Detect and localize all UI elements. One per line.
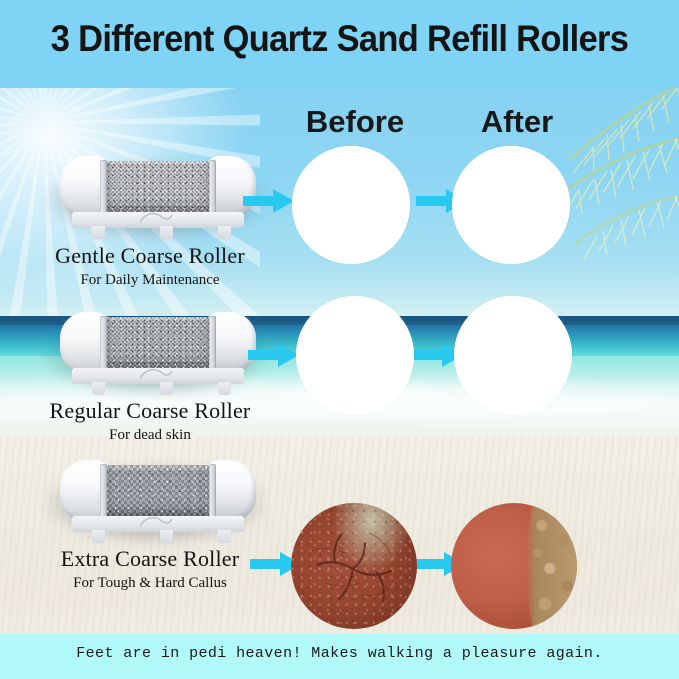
page-title: 3 Different Quartz Sand Refill Rollers: [24, 18, 655, 60]
roller-ferrule-right: [209, 160, 216, 215]
roller-leg: [218, 226, 231, 239]
footer-caption: Feet are in pedi heaven! Makes walking a…: [0, 645, 679, 662]
product-row-regular: Regular Coarse Roller For dead skin: [0, 258, 679, 418]
roller-leg: [160, 226, 173, 239]
product-row-gentle: Gentle Coarse Roller For Daily Maintenan…: [0, 88, 679, 248]
roller-ferrule-right: [209, 316, 216, 371]
product-row-extra: Extra Coarse Roller For Tough & Hard Cal…: [0, 418, 679, 578]
roller-logo-mark: [138, 210, 174, 226]
roller-grit-surface: [106, 161, 210, 214]
roller-ferrule-left: [100, 316, 107, 371]
roller-leg: [92, 382, 105, 395]
right-arrow-icon: [243, 188, 295, 214]
footer-bar: Feet are in pedi heaven! Makes walking a…: [0, 634, 679, 679]
product-infographic: 3 Different Quartz Sand Refill Rollers: [0, 0, 679, 679]
roller-image-regular: [42, 306, 270, 404]
roller-image-gentle: [42, 150, 270, 248]
callus-texture: [291, 503, 417, 629]
roller-logo-mark: [138, 514, 174, 530]
roller-ferrule-left: [100, 160, 107, 215]
roller-body: [60, 312, 256, 374]
header-bar: 3 Different Quartz Sand Refill Rollers: [0, 0, 679, 88]
gravel-texture: [526, 503, 577, 629]
roller-leg: [218, 530, 231, 543]
before-image-regular: [296, 296, 414, 414]
roller-leg: [160, 530, 173, 543]
roller-leg: [160, 382, 173, 395]
roller-leg: [92, 226, 105, 239]
roller-grit-surface: [106, 465, 210, 518]
right-arrow-icon: [248, 342, 300, 368]
roller-grit-surface: [106, 317, 210, 370]
before-image-extra: [291, 503, 417, 629]
after-image-extra: [451, 503, 577, 629]
roller-body: [60, 156, 256, 218]
roller-leg: [218, 382, 231, 395]
roller-logo-mark: [138, 366, 174, 382]
beach-scene: Before After: [0, 88, 679, 634]
roller-leg: [92, 530, 105, 543]
roller-ferrule-right: [209, 464, 216, 519]
after-image-gentle: [452, 146, 570, 264]
after-image-regular: [454, 296, 572, 414]
roller-ferrule-left: [100, 464, 107, 519]
roller-body: [60, 460, 256, 522]
before-image-gentle: [292, 146, 410, 264]
roller-image-extra: [42, 454, 270, 552]
